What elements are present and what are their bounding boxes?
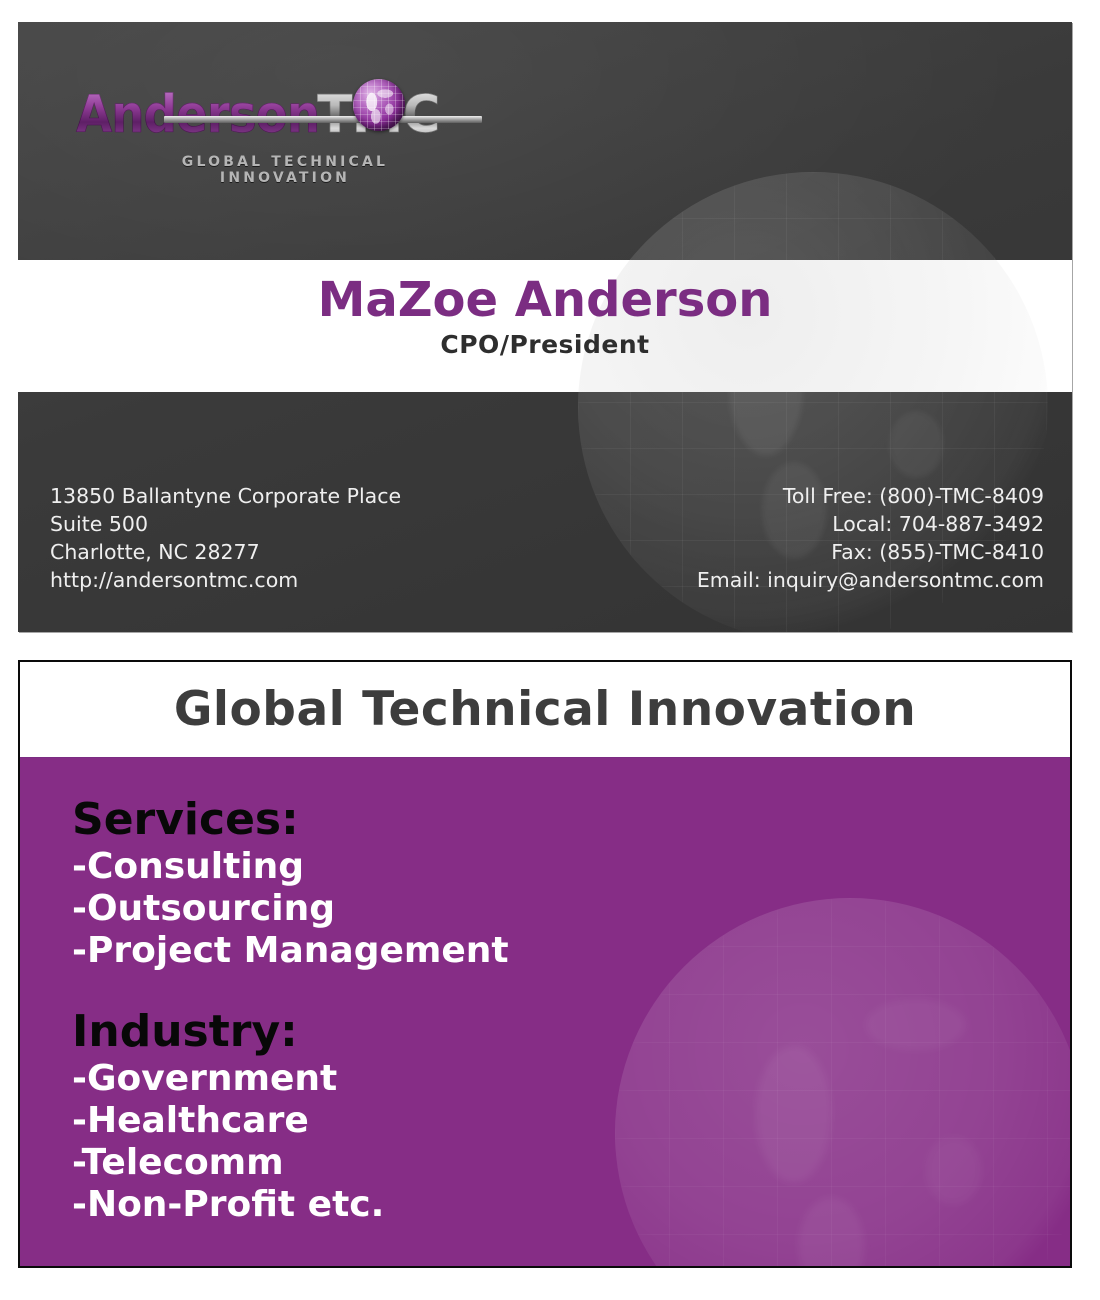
- logo-tagline: GLOBAL TECHNICAL INNOVATION: [120, 154, 450, 186]
- contact-area: 13850 Ballantyne Corporate Place Suite 5…: [18, 482, 1072, 612]
- address-line: Charlotte, NC 28277: [50, 538, 401, 566]
- address-block: 13850 Ballantyne Corporate Place Suite 5…: [50, 482, 401, 594]
- services-item: -Consulting: [72, 846, 1070, 888]
- person-title: CPO/President: [18, 330, 1072, 359]
- back-content: Services: -Consulting -Outsourcing -Proj…: [20, 758, 1070, 1226]
- contact-block: Toll Free: (800)-TMC-8409 Local: 704-887…: [697, 482, 1044, 594]
- local-phone-line: Local: 704-887-3492: [697, 510, 1044, 538]
- address-line: Suite 500: [50, 510, 401, 538]
- industry-item: -Government: [72, 1058, 1070, 1100]
- name-band: MaZoe Anderson CPO/President: [18, 260, 1072, 392]
- back-headline-band: Global Technical Innovation: [20, 662, 1070, 758]
- website-link[interactable]: http://andersontmc.com: [50, 566, 401, 594]
- business-card-back: Global Technical Innovation Services: -C…: [18, 660, 1072, 1268]
- services-heading: Services:: [72, 794, 1070, 846]
- logo-top-bar: [164, 116, 482, 123]
- globe-icon-grid: [353, 79, 405, 131]
- fax-line: Fax: (855)-TMC-8410: [697, 538, 1044, 566]
- services-section: Services: -Consulting -Outsourcing -Proj…: [72, 794, 1070, 972]
- back-headline: Global Technical Innovation: [20, 662, 1070, 758]
- industry-item: -Telecomm: [72, 1142, 1070, 1184]
- services-item: -Project Management: [72, 930, 1070, 972]
- industry-item: -Healthcare: [72, 1100, 1070, 1142]
- logo-brand-primary: Anderson: [76, 85, 319, 145]
- industry-item: -Non-Profit etc.: [72, 1184, 1070, 1226]
- business-card-front: AndersonTMC GLOBAL TECHNICAL INNOVATION …: [18, 22, 1072, 632]
- toll-free-line: Toll Free: (800)-TMC-8409: [697, 482, 1044, 510]
- address-line: 13850 Ballantyne Corporate Place: [50, 482, 401, 510]
- company-logo: AndersonTMC GLOBAL TECHNICAL INNOVATION: [76, 80, 476, 186]
- back-body: Services: -Consulting -Outsourcing -Proj…: [20, 758, 1070, 1266]
- logo-wordmark: AndersonTMC: [76, 80, 476, 150]
- section-divider: [72, 978, 1070, 1006]
- industry-section: Industry: -Government -Healthcare -Telec…: [72, 1006, 1070, 1226]
- services-item: -Outsourcing: [72, 888, 1070, 930]
- business-card-page: AndersonTMC GLOBAL TECHNICAL INNOVATION …: [0, 0, 1100, 1300]
- globe-icon: [353, 79, 405, 131]
- industry-heading: Industry:: [72, 1006, 1070, 1058]
- person-name: MaZoe Anderson: [18, 260, 1072, 328]
- email-line[interactable]: Email: inquiry@andersontmc.com: [697, 566, 1044, 594]
